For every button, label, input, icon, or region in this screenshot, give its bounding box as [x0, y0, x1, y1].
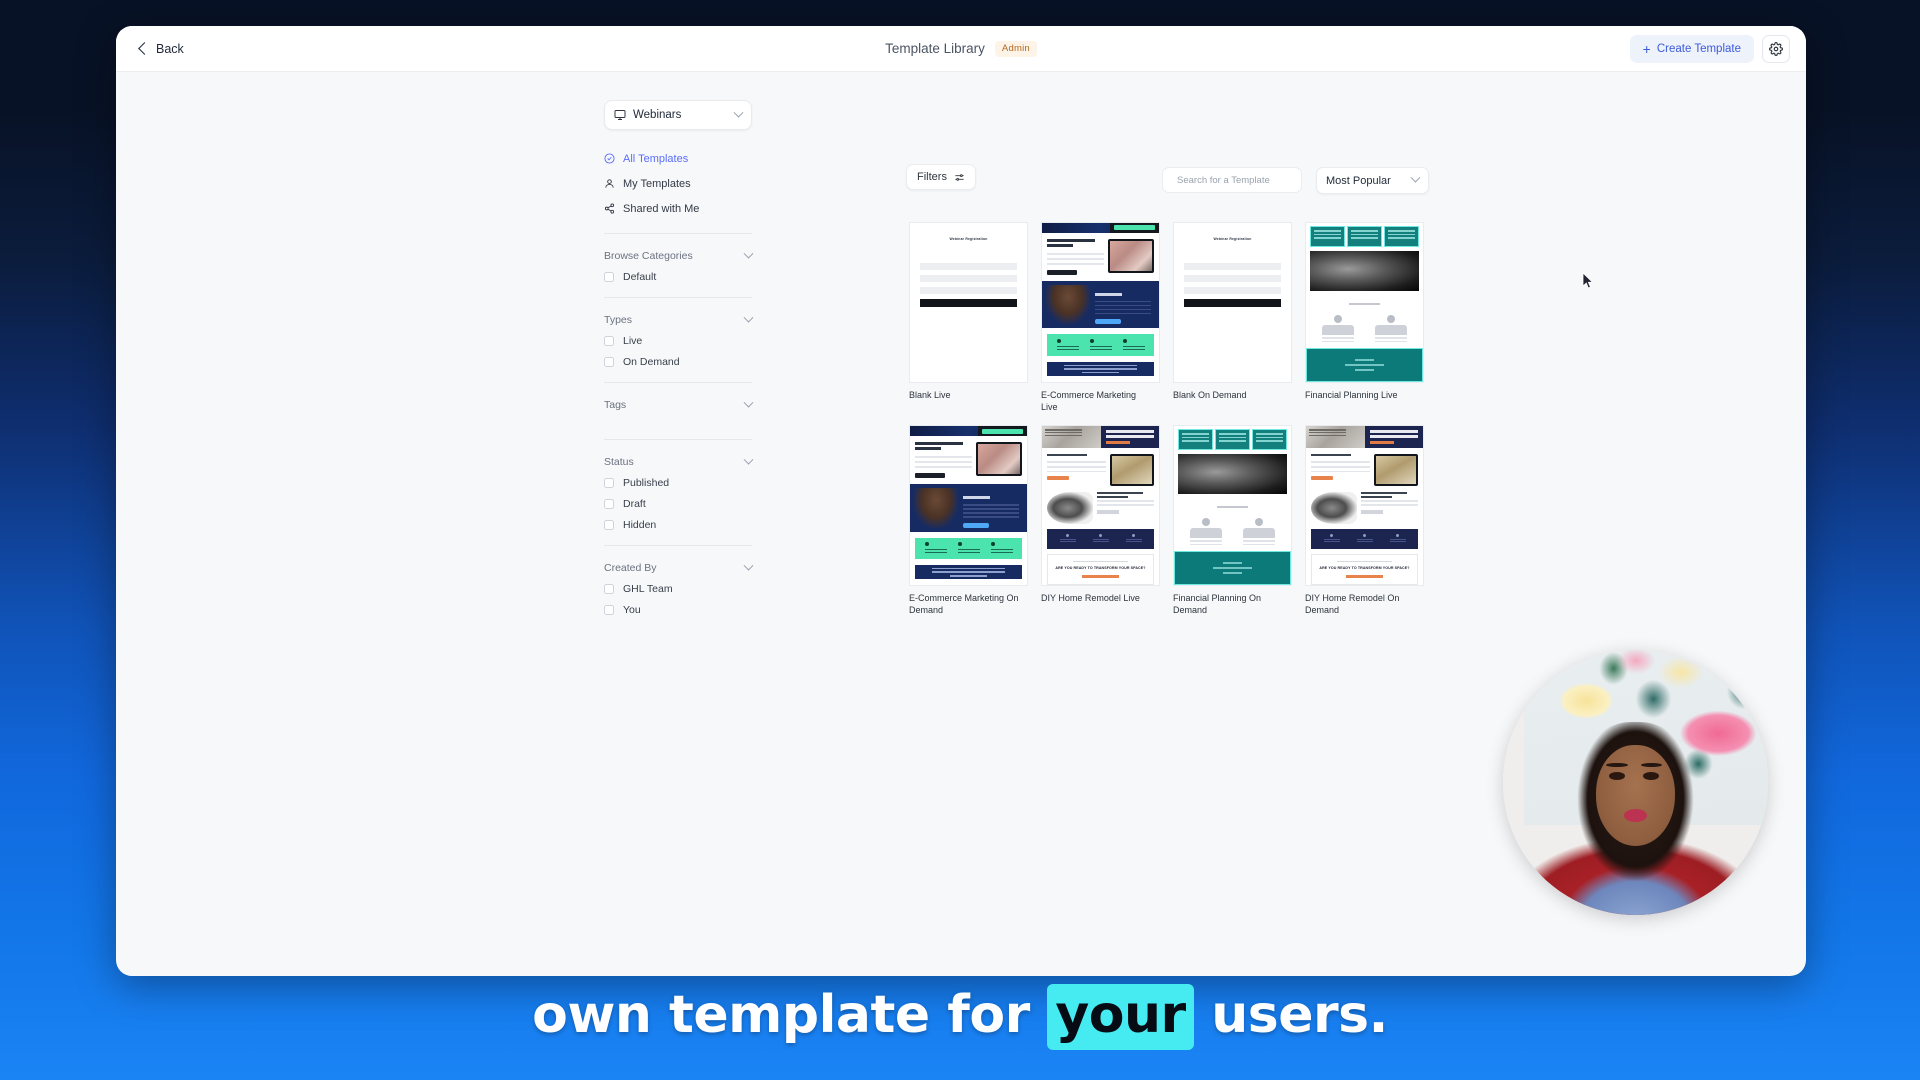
user-icon [604, 178, 615, 189]
template-name: Blank Live [909, 390, 1019, 402]
template-card[interactable]: E-Commerce Marketing On Demand [909, 425, 1028, 616]
sidebar-item-label: Shared with Me [623, 203, 699, 215]
filter-section-browse-categories: Browse Categories Default [604, 250, 752, 283]
filter-section-header[interactable]: Status [604, 456, 752, 468]
filter-section-title: Status [604, 456, 634, 468]
chevron-down-icon [744, 248, 754, 258]
divider [604, 233, 752, 234]
thumb-quote-text: ARE YOU READY TO TRANSFORM YOUR SPACE? [1319, 566, 1410, 570]
template-card[interactable]: Webinar Registration Blank On Demand [1173, 222, 1292, 413]
filter-section-header[interactable]: Types [604, 314, 752, 326]
divider [604, 382, 752, 383]
sidebar-item-shared-with-me[interactable]: Shared with Me [604, 198, 752, 219]
checkbox[interactable] [604, 478, 614, 488]
template-card[interactable]: ARE YOU READY TO TRANSFORM YOUR SPACE? D… [1041, 425, 1160, 616]
template-thumbnail[interactable] [1173, 425, 1292, 586]
chevron-down-icon [734, 107, 744, 117]
checkbox[interactable] [604, 336, 614, 346]
sort-select[interactable]: Most Popular [1316, 167, 1429, 194]
product-select-value: Webinars [633, 109, 728, 121]
template-thumbnail[interactable]: ARE YOU READY TO TRANSFORM YOUR SPACE? [1041, 425, 1160, 586]
template-thumbnail[interactable]: Webinar Registration [1173, 222, 1292, 383]
filter-option-ghl-team[interactable]: GHL Team [604, 583, 752, 595]
search-input[interactable] [1177, 175, 1309, 186]
filter-option-live[interactable]: Live [604, 335, 752, 347]
divider [604, 297, 752, 298]
filter-option-label: Draft [623, 498, 646, 510]
caption-before: own template for [532, 985, 1047, 1045]
filters-label: Filters [917, 171, 947, 183]
filter-section-header[interactable]: Tags [604, 399, 752, 411]
chevron-down-icon [744, 397, 754, 407]
sidebar-item-all-templates[interactable]: All Templates [604, 148, 752, 169]
template-thumbnail[interactable] [1305, 222, 1424, 383]
filter-option-label: Hidden [623, 519, 656, 531]
template-card[interactable]: E-Commerce Marketing Live [1041, 222, 1160, 413]
filter-option-label: You [623, 604, 641, 616]
gear-icon [1769, 42, 1783, 56]
presenter-eyebrow-left [1606, 763, 1627, 767]
template-thumbnail[interactable] [909, 425, 1028, 586]
sidebar-item-my-templates[interactable]: My Templates [604, 173, 752, 194]
presenter-eyebrow-right [1641, 763, 1662, 767]
filter-option-label: Published [623, 477, 669, 489]
filter-section-title: Browse Categories [604, 250, 693, 262]
filter-section-types: Types Live On Demand [604, 314, 752, 368]
checkbox[interactable] [604, 520, 614, 530]
filter-option-you[interactable]: You [604, 604, 752, 616]
caption-highlight: your [1047, 984, 1193, 1050]
sliders-icon [954, 172, 965, 183]
template-name: DIY Home Remodel Live [1041, 593, 1151, 605]
product-select[interactable]: Webinars [604, 100, 752, 130]
create-template-button[interactable]: + Create Template [1630, 35, 1754, 63]
sidebar-nav: All Templates My Templates Shared with M… [604, 148, 752, 219]
sidebar-item-label: My Templates [623, 178, 691, 190]
back-button[interactable]: Back [132, 38, 190, 60]
template-grid: Webinar Registration Blank Live [909, 222, 1439, 617]
sidebar-item-label: All Templates [623, 153, 688, 165]
template-thumbnail[interactable]: ARE YOU READY TO TRANSFORM YOUR SPACE? [1305, 425, 1424, 586]
sort-select-value: Most Popular [1326, 175, 1412, 187]
page-title-label: Template Library [885, 41, 985, 56]
chevron-down-icon [744, 312, 754, 322]
divider [604, 545, 752, 546]
template-card[interactable]: ARE YOU READY TO TRANSFORM YOUR SPACE? D… [1305, 425, 1424, 616]
chevron-left-icon [138, 42, 151, 55]
filter-section-created-by: Created By GHL Team You [604, 562, 752, 616]
filter-option-draft[interactable]: Draft [604, 498, 752, 510]
caption-after: users. [1194, 985, 1388, 1045]
template-name: Blank On Demand [1173, 390, 1283, 402]
divider [604, 439, 752, 440]
top-bar: Back Template Library Admin + Create Tem… [116, 26, 1806, 72]
filters-button[interactable]: Filters [906, 164, 976, 190]
template-name: Financial Planning Live [1305, 390, 1415, 402]
plus-icon: + [1643, 42, 1651, 56]
filter-section-header[interactable]: Created By [604, 562, 752, 574]
filter-option-label: On Demand [623, 356, 680, 368]
search-box[interactable] [1162, 167, 1302, 193]
create-template-label: Create Template [1657, 43, 1741, 55]
template-thumbnail[interactable]: Webinar Registration [909, 222, 1028, 383]
filter-option-label: GHL Team [623, 583, 673, 595]
filter-section-tags: Tags [604, 399, 752, 411]
status-badge: Admin [995, 41, 1037, 57]
template-name: Financial Planning On Demand [1173, 593, 1283, 616]
template-thumbnail[interactable] [1041, 222, 1160, 383]
template-name: E-Commerce Marketing Live [1041, 390, 1151, 413]
template-card[interactable]: Financial Planning On Demand [1173, 425, 1292, 616]
filter-option-on-demand[interactable]: On Demand [604, 356, 752, 368]
filter-option-hidden[interactable]: Hidden [604, 519, 752, 531]
checkbox[interactable] [604, 357, 614, 367]
filter-section-status: Status Published Draft Hidden [604, 456, 752, 531]
filter-section-title: Created By [604, 562, 657, 574]
template-card[interactable]: Webinar Registration Blank Live [909, 222, 1028, 413]
mouse-cursor [1582, 272, 1594, 290]
video-caption: own template for your users. [0, 985, 1920, 1045]
filter-section-title: Types [604, 314, 632, 326]
back-label: Back [156, 42, 184, 56]
sidebar: Webinars All Templates My Templates [604, 100, 752, 625]
webcam-overlay [1503, 650, 1768, 915]
chevron-down-icon [744, 560, 754, 570]
presenter-face [1596, 745, 1676, 846]
filter-section-header[interactable]: Browse Categories [604, 250, 752, 262]
checkbox[interactable] [604, 584, 614, 594]
thumb-quote-text: ARE YOU READY TO TRANSFORM YOUR SPACE? [1055, 566, 1146, 570]
filter-option-published[interactable]: Published [604, 477, 752, 489]
thumb-header-text: Webinar Registration [1184, 237, 1281, 241]
chevron-down-icon [744, 454, 754, 464]
filter-option-label: Default [623, 271, 656, 283]
presenter-eye-right [1643, 772, 1659, 780]
presenter-eye-left [1609, 772, 1625, 780]
share-icon [604, 203, 615, 214]
page-title: Template Library Admin [885, 41, 1037, 57]
filter-option-label: Live [623, 335, 642, 347]
chevron-down-icon [1411, 173, 1421, 183]
filter-section-title: Tags [604, 399, 626, 411]
checkbox[interactable] [604, 605, 614, 615]
check-circle-icon [604, 153, 615, 164]
template-name: DIY Home Remodel On Demand [1305, 593, 1415, 616]
monitor-icon [614, 109, 626, 121]
template-card[interactable]: Financial Planning Live [1305, 222, 1424, 413]
checkbox[interactable] [604, 272, 614, 282]
top-bar-actions: + Create Template [1630, 35, 1790, 63]
filter-option-default[interactable]: Default [604, 271, 752, 283]
checkbox[interactable] [604, 499, 614, 509]
settings-button[interactable] [1762, 35, 1790, 63]
template-name: E-Commerce Marketing On Demand [909, 593, 1019, 616]
thumb-header-text: Webinar Registration [920, 237, 1017, 241]
